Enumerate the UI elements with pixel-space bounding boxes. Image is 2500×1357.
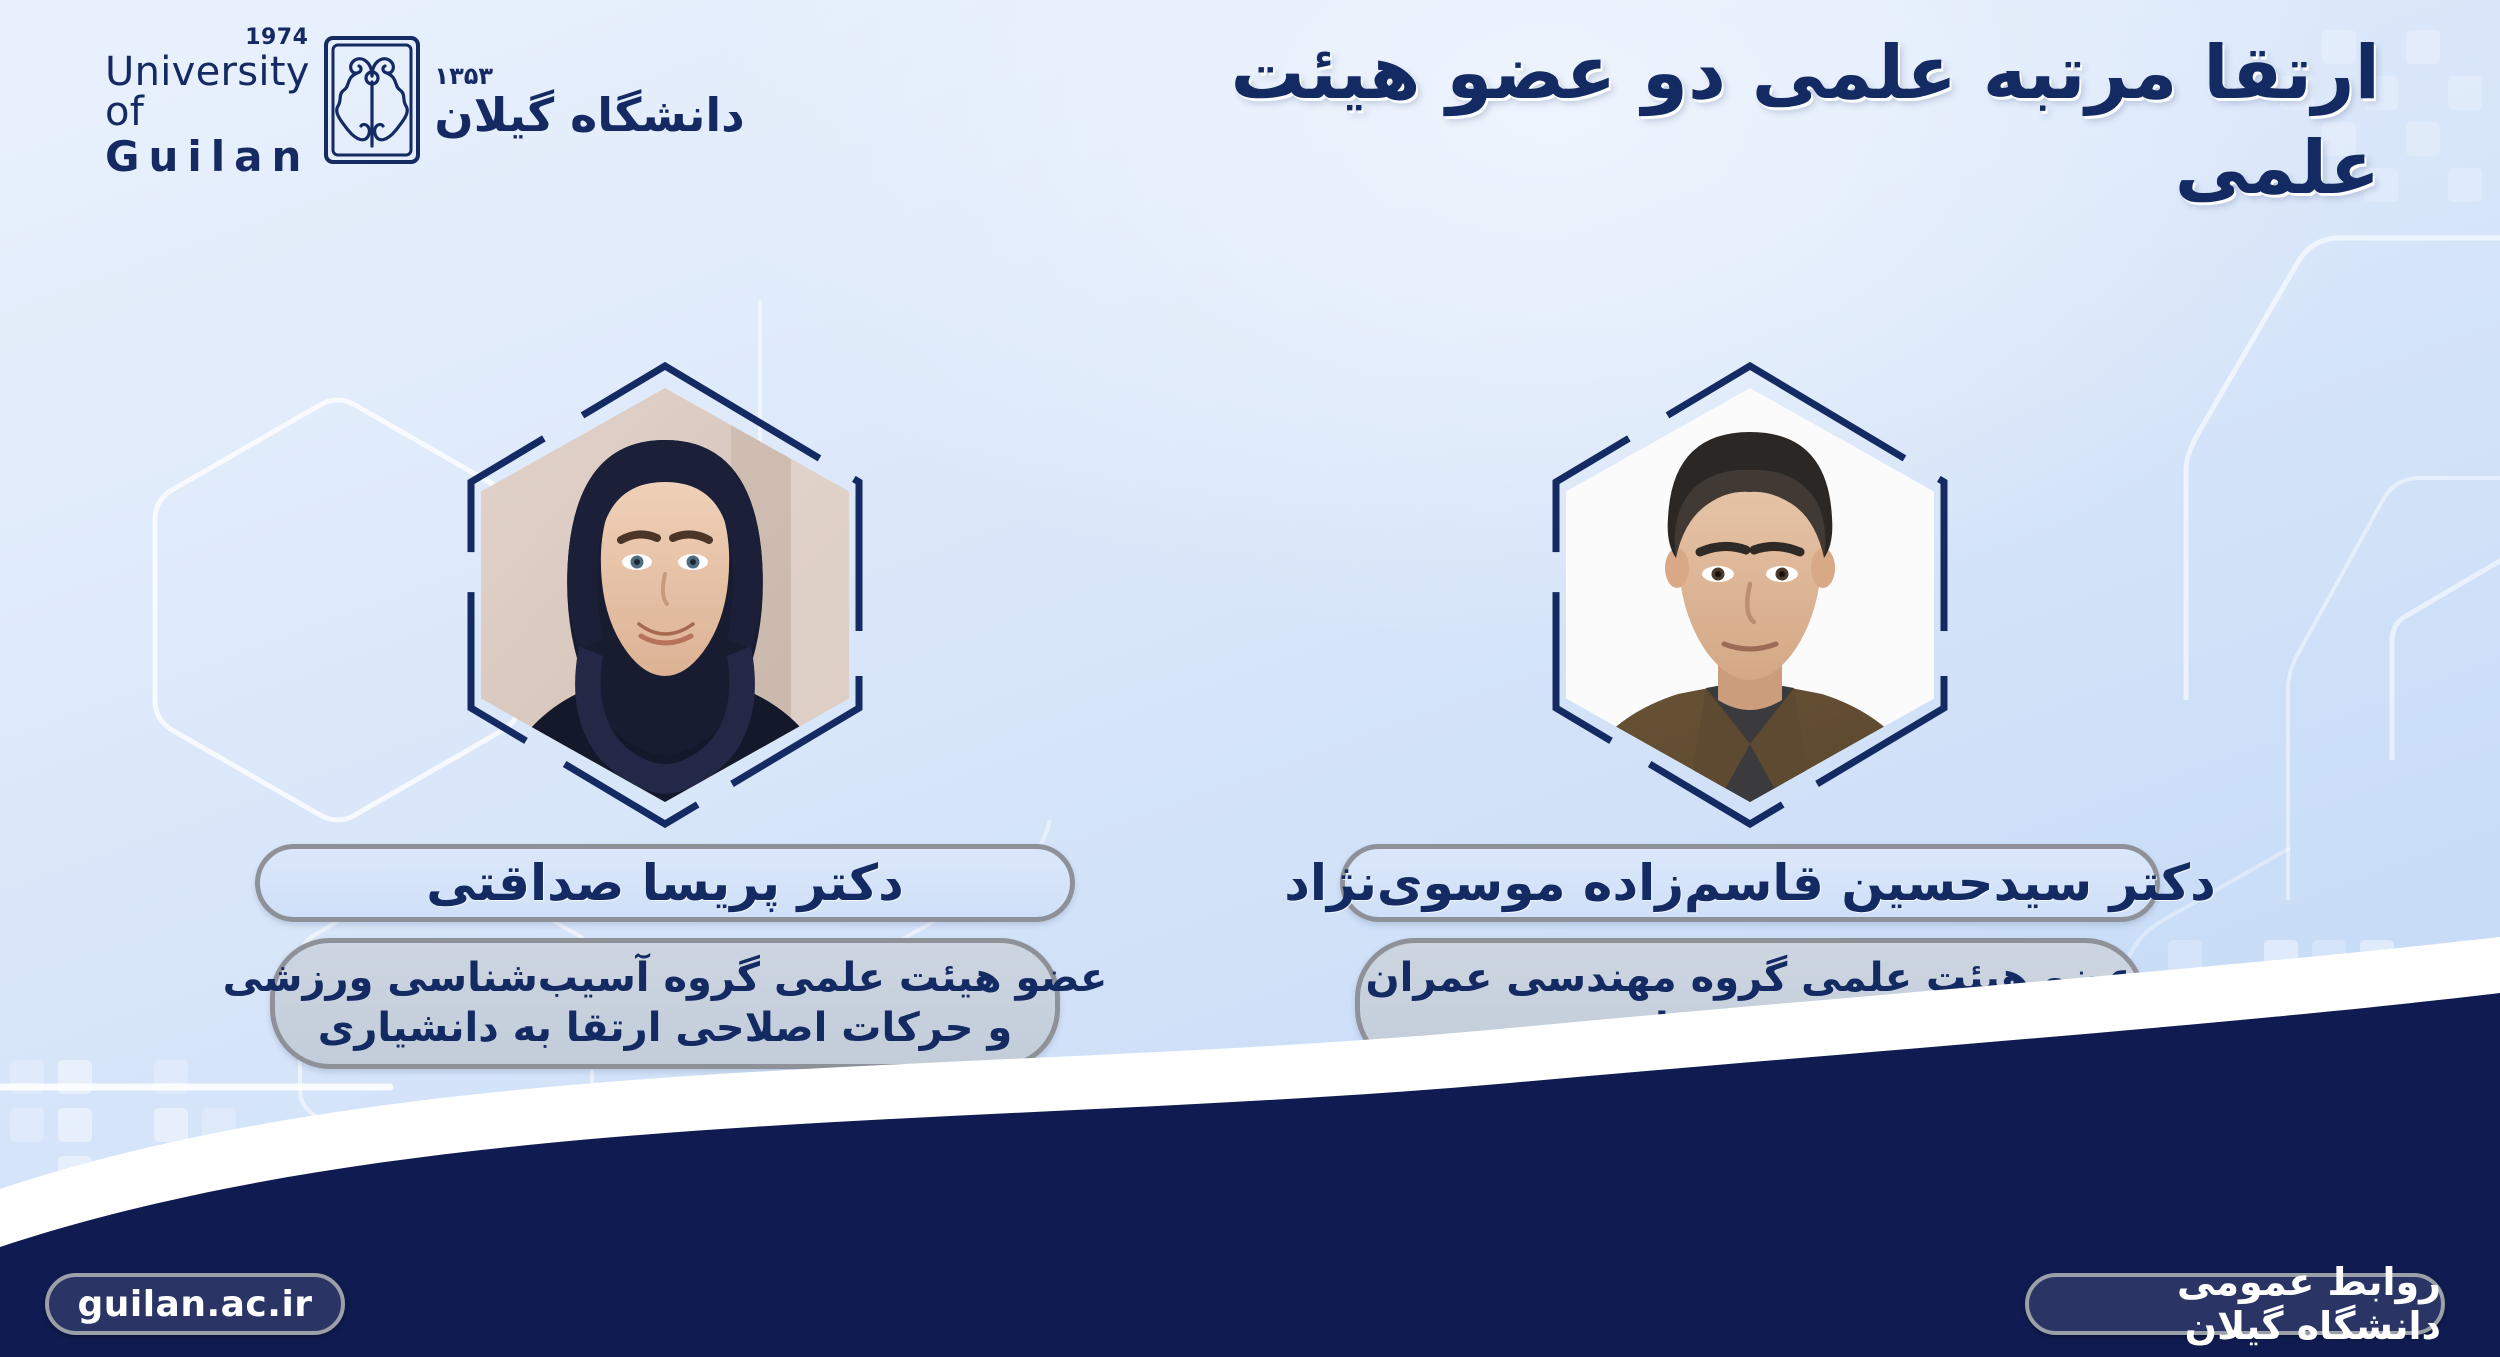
public-relations-text: روابط عمومی دانشگاه گیلان [2029, 1260, 2441, 1348]
logo-university-name-fa: دانشگاه گیلان [434, 88, 744, 142]
logo-persian-text: ۱۳۵۳ دانشگاه گیلان [434, 62, 744, 142]
logo-english-text: 1974 University of Guilan [105, 27, 310, 178]
guilan-university-emblem-icon [322, 34, 422, 170]
person-name-badge: دکتر پریسا صداقتی [255, 844, 1075, 922]
logo-year-fa: ۱۳۵۳ [434, 62, 493, 90]
logo-year-en: 1974 [245, 27, 308, 49]
avatar [455, 360, 875, 830]
hexagon-frame-icon [455, 360, 875, 830]
logo-guilan: Guilan [105, 136, 310, 178]
website-url-badge[interactable]: guilan.ac.ir [45, 1273, 345, 1335]
page-title: ارتقا مرتبه علمی دو عضو هیئت علمی [1060, 26, 2380, 215]
website-url-text: guilan.ac.ir [77, 1284, 312, 1325]
person-name-badge: دکتر سیدحسین قاسم‌زاده موسوی‌نژاد [1340, 844, 2160, 922]
logo-university-of: University of [105, 52, 310, 132]
university-logo: 1974 University of Guilan ۱۳۵۳ دانشگاه گ… [105, 32, 535, 172]
public-relations-badge: روابط عمومی دانشگاه گیلان [2025, 1273, 2445, 1335]
avatar [1540, 360, 1960, 830]
person-name: دکتر سیدحسین قاسم‌زاده موسوی‌نژاد [1284, 854, 2216, 912]
hexagon-frame-icon [1540, 360, 1960, 830]
person-name: دکتر پریسا صداقتی [426, 854, 903, 912]
poster-root: 1974 University of Guilan ۱۳۵۳ دانشگاه گ… [0, 0, 2500, 1357]
